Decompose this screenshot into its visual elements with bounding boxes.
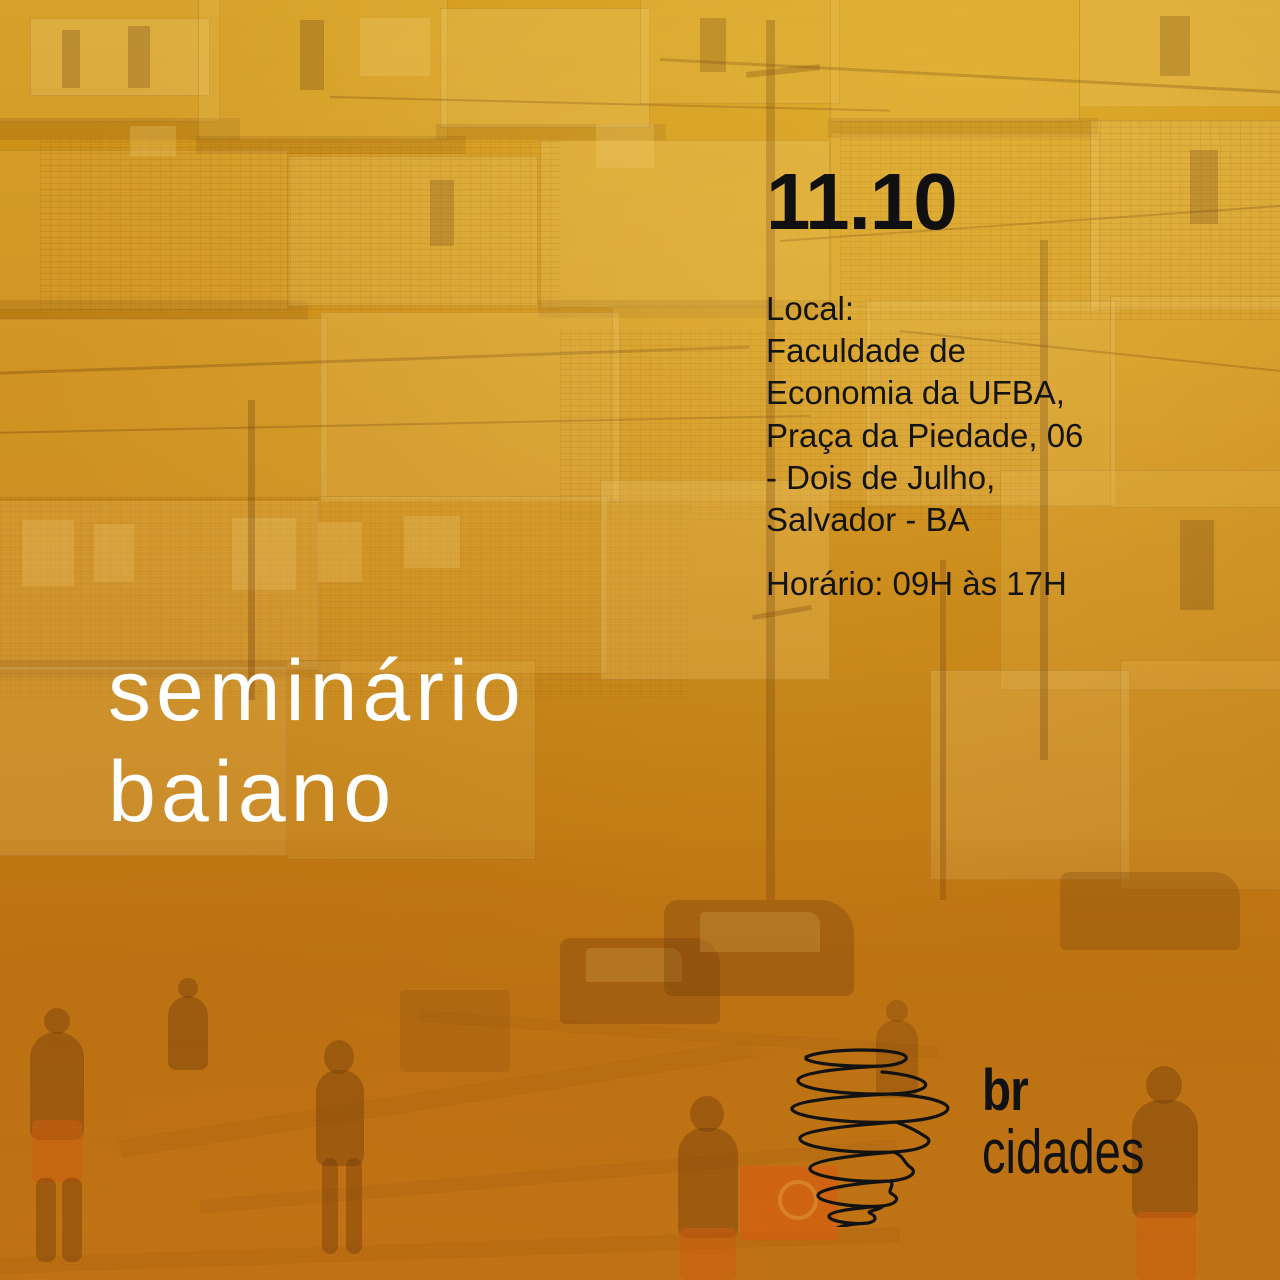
spiral-funnel-icon xyxy=(786,1042,966,1227)
logo-brand-top: br xyxy=(982,1066,1157,1116)
page-title-line-1: seminário xyxy=(108,641,526,742)
event-poster: 11.10 Local: Faculdade de Economia da UF… xyxy=(0,0,1280,1280)
event-date: 11.10 xyxy=(766,162,957,242)
brcidades-wordmark: br cidades xyxy=(982,1066,1196,1184)
page-title-line-2: baiano xyxy=(108,742,526,843)
poster-content: 11.10 Local: Faculdade de Economia da UF… xyxy=(0,0,1280,1280)
logo-brand-bottom: cidades xyxy=(982,1122,1144,1184)
event-location: Local: Faculdade de Economia da UFBA, Pr… xyxy=(766,288,1083,541)
brcidades-logo: br cidades xyxy=(786,1038,1136,1238)
page-title: seminário baiano xyxy=(108,641,526,844)
event-hours: Horário: 09H às 17H xyxy=(766,563,1067,605)
